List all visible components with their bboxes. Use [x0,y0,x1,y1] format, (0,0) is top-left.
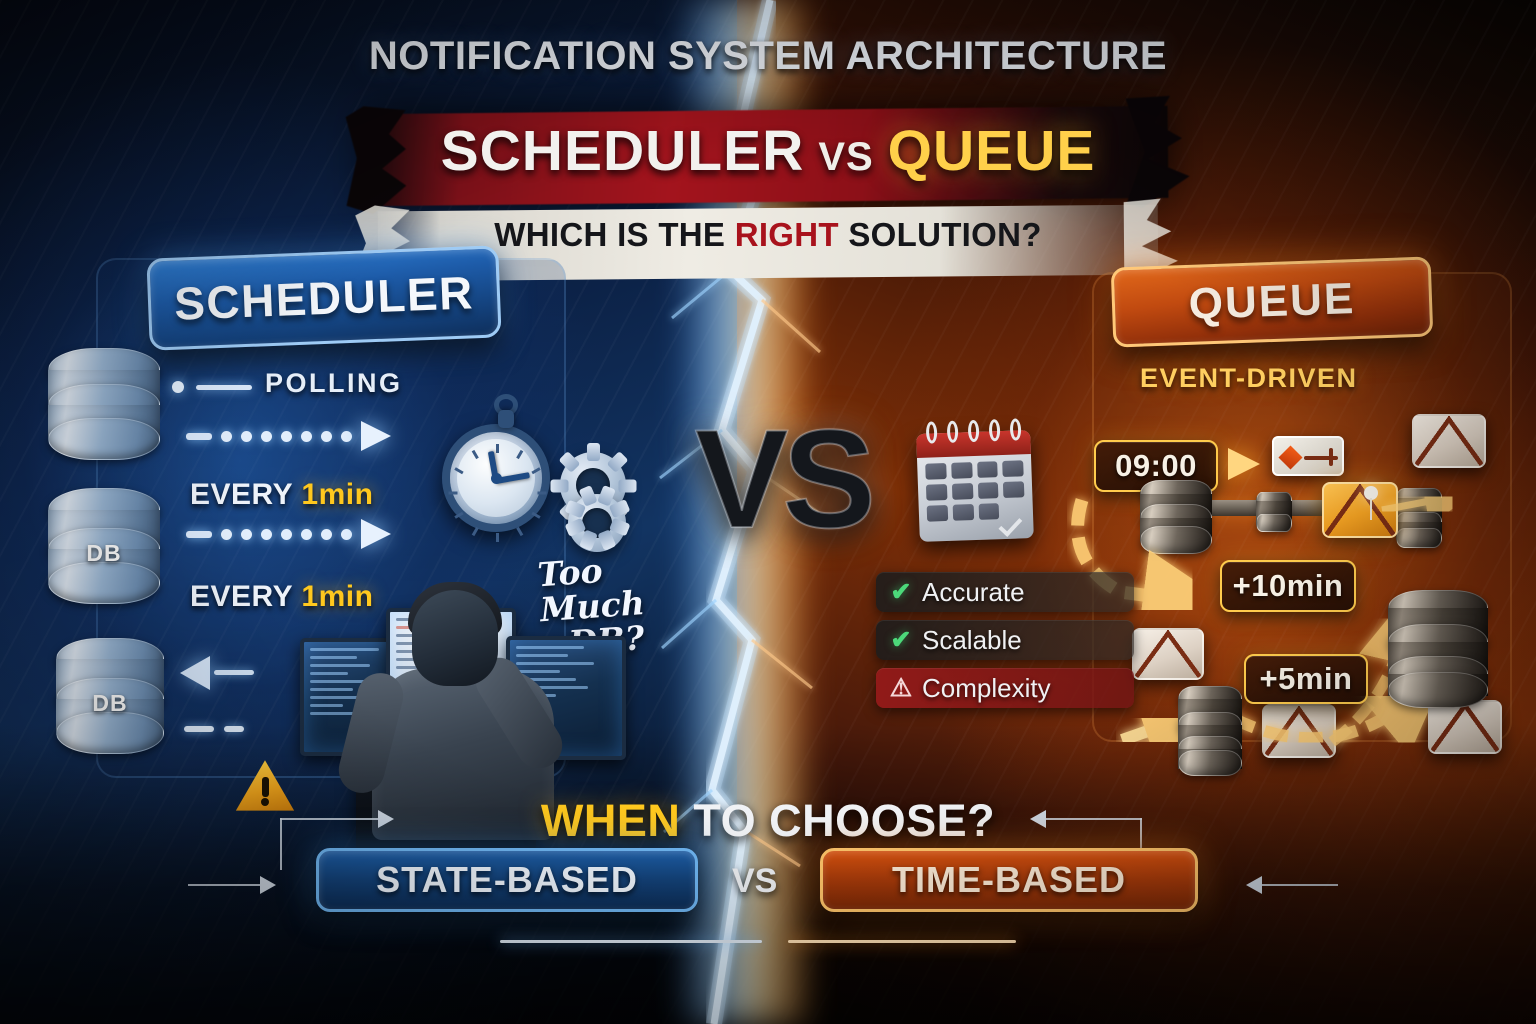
outer-left-arrowhead [260,876,276,894]
title-scheduler-word: SCHEDULER [441,119,805,183]
polling-line-dot [172,381,184,393]
time-based-pill[interactable]: TIME-BASED [820,848,1198,912]
title-queue-word: QUEUE [888,119,1096,183]
hook-left-horizontal [280,818,380,820]
return-arrow-left [180,656,210,690]
title-vs-word: VS [818,135,873,179]
page-title: NOTIFICATION SYSTEM ARCHITECTURE [0,34,1536,79]
checklist-label: Complexity [922,673,1051,704]
time-based-label: TIME-BASED [892,859,1126,901]
gear-small-icon [568,494,626,552]
scheduler-badge[interactable]: SCHEDULER [146,245,501,350]
state-based-underglow [500,940,762,943]
envelope-icon [1262,704,1336,758]
when-post: CHOOSE? [756,795,995,846]
subtitle-highlight: RIGHT [735,216,839,253]
envelope-icon [1412,414,1486,468]
interval-2-prefix: EVERY [190,580,301,613]
footer-vs-label: VS [732,862,777,901]
state-based-label: STATE-BASED [376,859,638,901]
return-arrow-dash [214,670,254,675]
state-based-pill[interactable]: STATE-BASED [316,848,698,912]
database-label: DB [48,540,160,567]
time-badge-plus10: +10min [1220,560,1356,612]
check-icon: ✔ [886,577,916,607]
checklist-label: Accurate [922,577,1025,608]
hook-left-vertical [280,818,282,870]
calendar-icon [916,430,1034,542]
subtitle-pre: WHICH IS THE [494,216,734,253]
poll-arrow-2 [186,528,391,540]
scheduled-job-ticket-icon [1272,436,1344,476]
database-icon [48,348,160,468]
polling-label: POLLING [265,368,403,399]
hook-right-arrowhead [1030,810,1046,828]
outer-right-arrowhead [1246,876,1262,894]
when-to-choose-heading: WHEN TO CHOOSE? [0,795,1536,847]
database-icon [1140,480,1212,552]
interval-label-1: EVERY 1min [190,478,373,512]
return-arrow-dash3 [224,726,244,732]
database-icon: DB [48,488,160,608]
polling-line-dash [196,385,252,390]
infographic-canvas: NOTIFICATION SYSTEM ARCHITECTURE SCHEDUL… [0,0,1536,1024]
when-pre: WHEN [541,795,694,846]
title-versus-row: SCHEDULERVSQUEUE [0,118,1536,184]
envelope-icon [1322,482,1398,538]
interval-1-prefix: EVERY [190,478,301,511]
checklist-label: Scalable [922,625,1022,656]
database-icon [1388,590,1488,710]
checklist-item: ✔ Scalable [876,620,1134,660]
stopwatch-icon [442,424,550,532]
event-driven-label: EVENT-DRIVEN [1140,363,1358,394]
database-icon [1178,686,1242,776]
center-vs-label: VS [695,398,870,560]
database-icon [1396,488,1442,546]
scheduler-badge-label: SCHEDULER [173,265,475,330]
page-subtitle: WHICH IS THE RIGHT SOLUTION? [0,216,1536,254]
warning-icon: ⚠ [886,673,916,703]
queue-badge-label: QUEUE [1188,274,1356,330]
hook-left-arrowhead [378,810,394,828]
time-based-underglow [788,940,1016,943]
subtitle-post: SOLUTION? [839,216,1042,253]
envelope-icon [1132,628,1204,680]
queue-benefits-checklist: ✔ Accurate ✔ Scalable ⚠ Complexity [876,572,1134,716]
time-badge-plus5: +5min [1244,654,1368,704]
pin-stem [1370,498,1372,520]
database-icon [1256,492,1292,538]
check-icon: ✔ [886,625,916,655]
queue-arrow-1 [1228,448,1260,480]
checklist-item: ⚠ Complexity [876,668,1134,708]
poll-arrow-1 [186,430,391,442]
queue-badge[interactable]: QUEUE [1111,256,1434,347]
hook-right-horizontal [1046,818,1142,820]
interval-1-value: 1min [301,478,373,511]
outer-left-line [188,884,262,886]
return-arrow-dash2 [184,726,214,732]
outer-right-line [1262,884,1338,886]
when-highlight: TO [693,795,756,846]
database-label: DB [56,690,164,717]
database-icon: DB [56,638,164,758]
checklist-item: ✔ Accurate [876,572,1134,612]
